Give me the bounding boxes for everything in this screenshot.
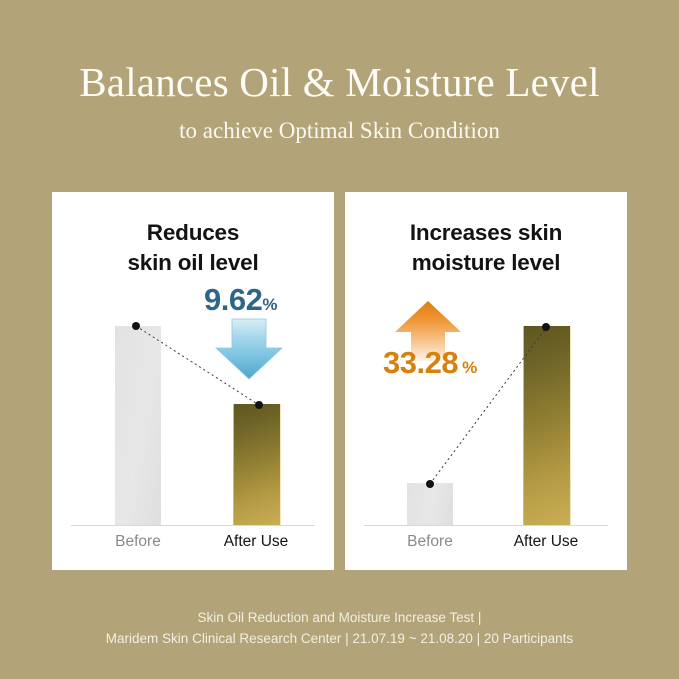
stat-oil-decrease: 9.62%: [204, 282, 277, 318]
data-point-moisture-before: [426, 480, 434, 488]
data-point-oil-before: [132, 322, 140, 330]
footer-line-1: Skin Oil Reduction and Moisture Increase…: [0, 607, 679, 628]
bar-oil-before: [115, 326, 161, 525]
trend-connector-moisture: [345, 192, 627, 570]
bar-moisture-before: [407, 483, 453, 525]
chart-oil: Before After Use 9.62%: [52, 192, 334, 570]
bar-oil-after: [233, 404, 281, 525]
footer-line-2: Maridem Skin Clinical Research Center | …: [0, 628, 679, 649]
chart-oil-baseline: [71, 525, 315, 526]
panel-oil: Reduces skin oil level Before After Use …: [52, 192, 334, 570]
footer-caption: Skin Oil Reduction and Moisture Increase…: [0, 607, 679, 649]
stat-oil-value: 9.62: [204, 282, 262, 317]
data-point-oil-after: [255, 401, 263, 409]
chart-moisture-baseline: [364, 525, 608, 526]
infographic-root: Balances Oil & Moisture Level to achieve…: [0, 0, 679, 679]
arrow-down-icon: [215, 318, 283, 385]
axis-label-moisture-after: After Use: [486, 532, 606, 552]
stat-moisture-increase: 33.28%: [383, 345, 477, 381]
axis-label-moisture-before: Before: [370, 532, 490, 552]
page-title: Balances Oil & Moisture Level: [0, 57, 679, 107]
chart-moisture: Before After Use: [345, 192, 627, 570]
stat-moisture-unit: %: [462, 358, 477, 377]
stat-oil-unit: %: [262, 295, 277, 314]
page-subtitle: to achieve Optimal Skin Condition: [0, 116, 679, 146]
data-point-moisture-after: [542, 323, 550, 331]
axis-label-oil-before: Before: [78, 532, 198, 552]
stat-moisture-value: 33.28: [383, 345, 458, 380]
trend-connector-oil: [52, 192, 334, 570]
axis-label-oil-after: After Use: [196, 532, 316, 552]
panel-moisture: Increases skin moisture level Before Aft…: [345, 192, 627, 570]
bar-moisture-after: [523, 326, 571, 525]
